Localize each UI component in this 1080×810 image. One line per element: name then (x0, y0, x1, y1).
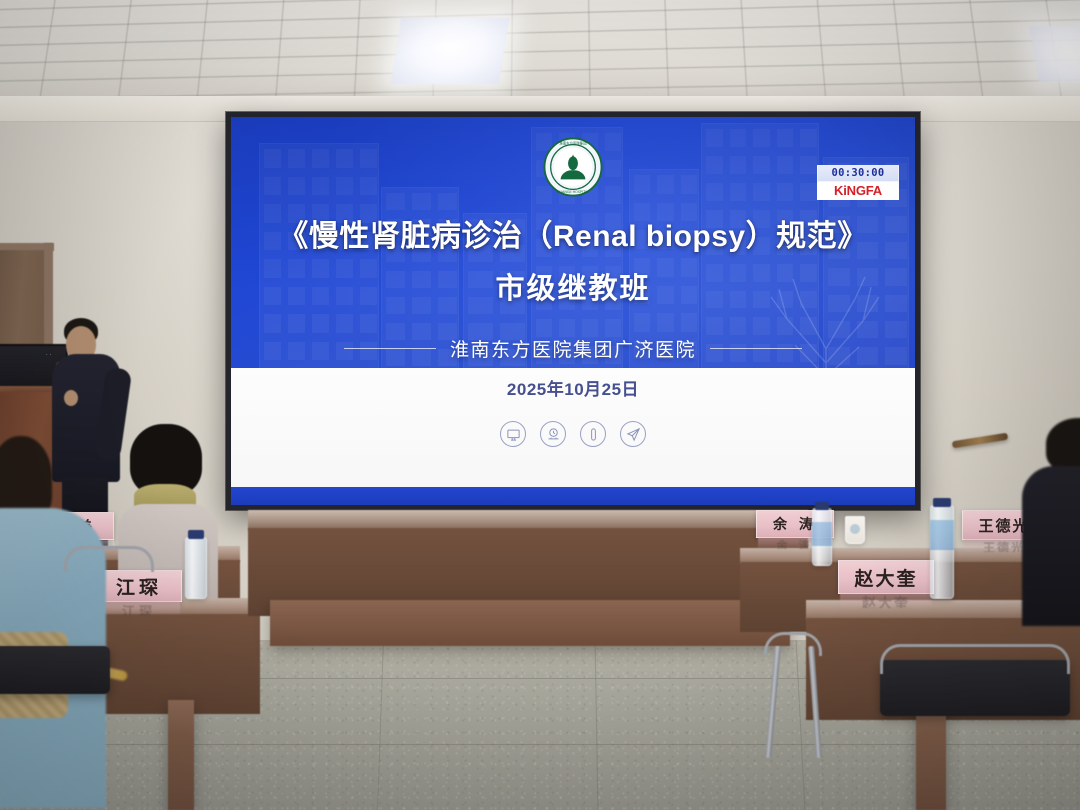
water-bottle-left (185, 537, 207, 599)
attendee-right (1030, 418, 1080, 618)
chair-rail-center (764, 632, 822, 656)
chair-rail-mid (64, 546, 154, 572)
ceiling-grid-line (0, 0, 1080, 11)
placard-text: 赵大奎 (854, 564, 917, 591)
ceiling-grid-line (354, 0, 361, 98)
ceiling-grid-line (40, 0, 57, 97)
desk-leg-right (916, 700, 946, 810)
ceiling-grid-line (0, 38, 1080, 64)
countdown-timer: 00:30:00 (817, 165, 899, 182)
chair-rail-right (880, 644, 1070, 674)
org-rule-left (344, 348, 436, 349)
paper-plane-icon (620, 421, 646, 447)
placard-reflection: 赵大奎 (840, 593, 932, 608)
bottle-cap-left (188, 530, 204, 539)
placard-zhao-da-kui: 赵大奎 (838, 560, 934, 594)
desk-leg-left (168, 700, 194, 810)
led-display-screen[interactable]: 淮南东方医院集团 GUANGJI HOSPITAL 00:30:00 KiNGF… (226, 112, 920, 510)
ceiling-light-panel (391, 18, 509, 84)
placard-text: 余 涛 (773, 514, 817, 534)
placard-reflection-text: 王德光 (983, 539, 1025, 552)
slide-footer-panel: 2025年10月25日 (231, 368, 915, 487)
ceiling-grid-line (968, 0, 983, 97)
stage-desk-top (248, 510, 808, 530)
svg-text:GUANGJI HOSPITAL: GUANGJI HOSPITAL (557, 190, 589, 194)
hospital-emblem-icon: 淮南东方医院集团 GUANGJI HOSPITAL (542, 136, 604, 198)
slide-subtitle: 市级继教班 (231, 265, 915, 307)
stage-desk-panel (270, 600, 790, 646)
bottle-label (812, 522, 832, 546)
chair-front-left (0, 646, 110, 694)
attendee-front-left (0, 436, 130, 810)
attendee-right-hair (1046, 418, 1080, 472)
ceiling-grid (0, 0, 1080, 98)
slide-date: 2025年10月25日 (231, 375, 915, 400)
timer-brand-block: 00:30:00 KiNGFA (817, 165, 899, 200)
slide-organization: 淮南东方医院集团广济医院 (450, 335, 696, 362)
placard-reflection-text: 余 涛 (776, 537, 813, 549)
placard-reflection-text: 赵大奎 (862, 593, 910, 608)
ceiling-grid-line (197, 0, 209, 97)
ceiling-grid-line (0, 59, 1080, 83)
slide-icon-row (231, 421, 915, 447)
svg-text:淮南东方医院集团: 淮南东方医院集团 (559, 141, 587, 146)
ceiling-grid-line (740, 0, 748, 98)
ceiling (0, 0, 1080, 98)
slide-organization-row: 淮南东方医院集团广济医院 (231, 335, 915, 362)
ceiling-grid-line (816, 0, 826, 98)
slide-title: 《慢性肾脏病诊治（Renal biopsy）规范》 (231, 211, 915, 255)
cup-decoration (850, 524, 860, 534)
ceiling-grid-line (511, 0, 513, 98)
podium-monitor-label: · · (46, 352, 52, 358)
ceiling-grid-line (118, 0, 133, 97)
kingfa-logo: KiNGFA (817, 182, 899, 200)
conference-room-photo: 淮南东方医院集团 GUANGJI HOSPITAL 00:30:00 KiNGF… (0, 0, 1080, 810)
monitor-icon (500, 421, 526, 447)
ceiling-light-panel-right (1029, 26, 1080, 82)
bottle-cap (815, 502, 829, 510)
bottle-cap (933, 498, 951, 507)
capsule-icon (580, 421, 606, 447)
ceiling-grid-line (275, 0, 285, 98)
presenter-hand (64, 390, 78, 406)
presentation-slide: 淮南东方医院集团 GUANGJI HOSPITAL 00:30:00 KiNGF… (231, 117, 915, 505)
slide-bottom-band (231, 487, 915, 505)
bottle-label (930, 520, 954, 550)
attendee-right-torso (1022, 466, 1080, 626)
org-rule-right (710, 348, 802, 349)
network-clock-icon (540, 421, 566, 447)
